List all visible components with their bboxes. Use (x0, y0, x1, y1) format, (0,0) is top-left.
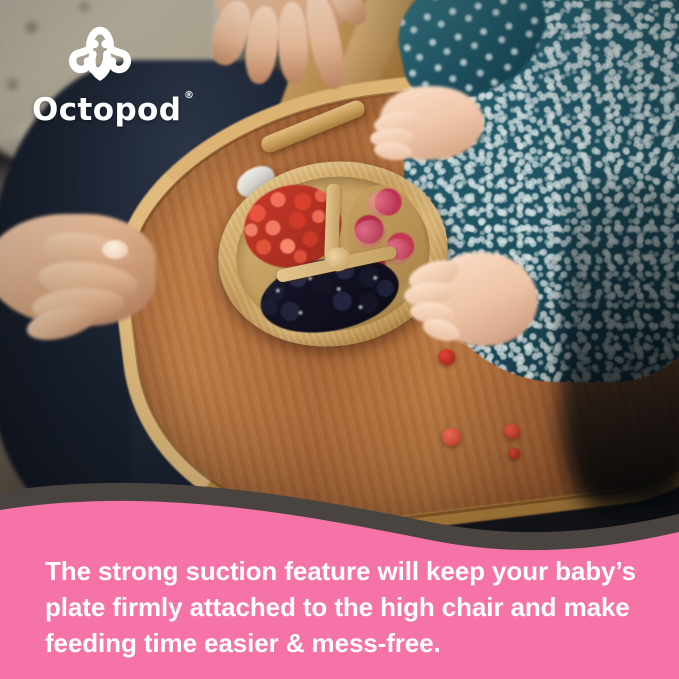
adult-hand-left (0, 196, 174, 348)
loose-fruit-piece (504, 424, 520, 439)
loose-fruit-piece (438, 349, 455, 365)
brand-wordmark: Octopod (32, 92, 181, 128)
promo-banner: The strong suction feature will keep you… (0, 462, 679, 679)
promo-caption: The strong suction feature will keep you… (45, 554, 645, 662)
adult-fingernail (102, 240, 128, 259)
blueberry-highlight (298, 310, 303, 315)
octopus-icon (62, 24, 138, 86)
loose-fruit-piece (442, 428, 461, 446)
blueberry-highlight (373, 276, 378, 281)
octopus-eye-right (101, 40, 109, 48)
adult-hand-top (206, 0, 386, 116)
raspberry-highlight (365, 188, 400, 220)
baby-dress-shadow (560, 180, 679, 510)
octopus-eye-left (90, 40, 98, 48)
baby-hand-on-plate (408, 246, 538, 356)
blueberry-highlight (336, 287, 341, 292)
product-lifestyle-banner: Octopod ® The strong suction feature wil… (0, 0, 679, 679)
brand-logo: Octopod ® (32, 24, 232, 124)
blueberry-highlight (276, 288, 281, 293)
registered-trademark-symbol: ® (184, 90, 194, 101)
raspberry-highlight (351, 217, 388, 251)
blueberry-highlight (358, 305, 363, 310)
loose-fruit-piece (508, 448, 520, 459)
